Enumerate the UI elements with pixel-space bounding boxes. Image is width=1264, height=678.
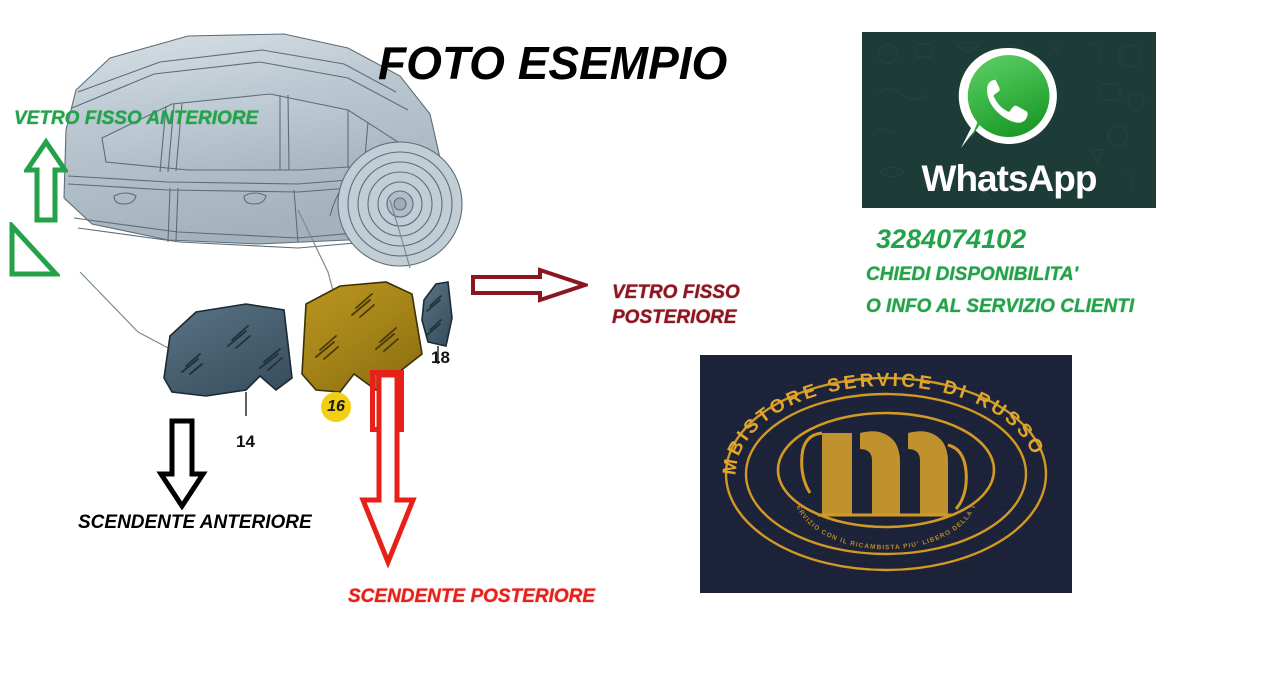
arrow-up-green-icon [24,138,68,224]
label-vetro-fisso-anteriore: VETRO FISSO ANTERIORE [14,108,258,130]
label-scendente-anteriore: SCENDENTE ANTERIORE [78,512,312,534]
screenshot-canvas: 16 14 17 18 FOTO ESEMPIO VETRO FISSO ANT… [0,0,1264,678]
whatsapp-logo-icon [953,44,1065,156]
whatsapp-wordmark: WhatsApp [862,158,1156,200]
part-number-18: 18 [431,348,450,368]
company-logo-monogram [802,431,967,515]
arrow-down-red-icon [358,372,418,568]
part-number-14: 14 [236,432,255,452]
label-vetro-fisso-posteriore-line1: VETRO FISSO [612,280,740,305]
label-scendente-posteriore: SCENDENTE POSTERIORE [348,586,595,608]
part-number-badge-16: 16 [321,392,351,422]
contact-line-availability: CHIEDI DISPONIBILITA' [866,264,1078,286]
label-vetro-fisso-posteriore-line2: POSTERIORE [612,305,740,330]
company-logo-artwork: MRICAMBISTORE SERVICE DI RUSSO MARCO AL … [700,355,1072,593]
triangle-green-icon [8,222,60,278]
part-14-shape [164,304,292,416]
whatsapp-banner[interactable]: WhatsApp [862,32,1156,208]
label-vetro-fisso-posteriore: VETRO FISSO POSTERIORE [612,280,740,330]
company-logo: MRICAMBISTORE SERVICE DI RUSSO MARCO AL … [700,355,1072,593]
arrow-right-darkred-icon [470,267,588,303]
arrow-down-black-icon [156,418,208,510]
page-title: FOTO ESEMPIO [378,36,727,90]
whatsapp-phone-number[interactable]: 3284074102 [876,224,1026,255]
contact-line-customer-service: O INFO AL SERVIZIO CLIENTI [866,296,1134,318]
